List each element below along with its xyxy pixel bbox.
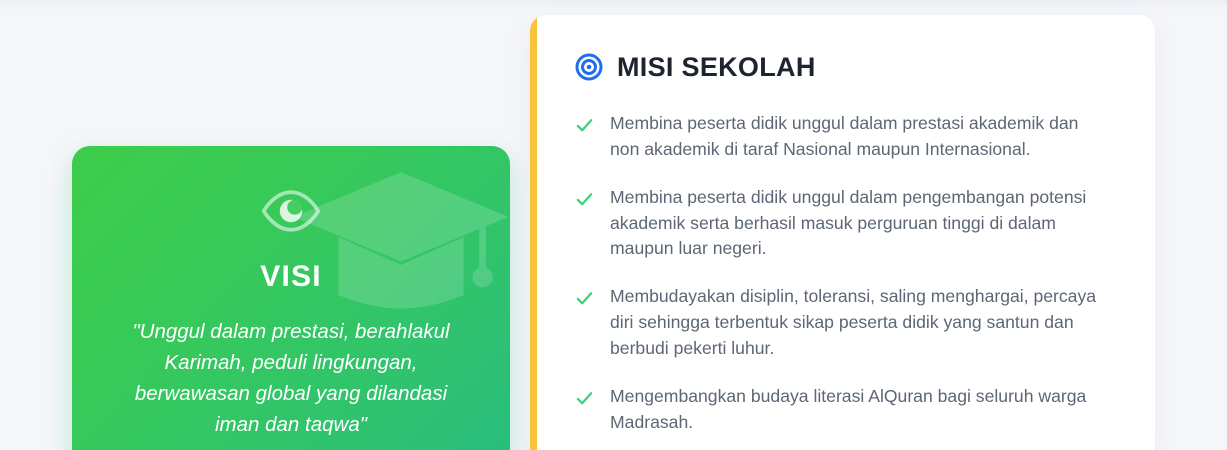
misi-header: MISI SEKOLAH xyxy=(575,53,1125,81)
visi-quote: "Unggul dalam prestasi, berahlakul Karim… xyxy=(106,316,476,441)
misi-item-text: Membina peserta didik unggul dalam prest… xyxy=(610,111,1100,163)
misi-accent-bar xyxy=(530,15,537,450)
list-item: Membina peserta didik unggul dalam prest… xyxy=(575,111,1125,163)
misi-item-text: Membudayakan disiplin, toleransi, saling… xyxy=(610,284,1100,362)
misi-card: MISI SEKOLAH Membina peserta didik unggu… xyxy=(530,15,1155,450)
visi-title: VISI xyxy=(106,260,476,294)
list-item: Membudayakan disiplin, toleransi, saling… xyxy=(575,284,1125,362)
misi-content: MISI SEKOLAH Membina peserta didik unggu… xyxy=(537,15,1155,450)
check-icon xyxy=(575,289,594,308)
list-item: Mengembangkan budaya literasi AlQuran ba… xyxy=(575,384,1125,436)
target-icon xyxy=(575,53,603,81)
misi-item-text: Mengembangkan budaya literasi AlQuran ba… xyxy=(610,384,1100,436)
check-icon xyxy=(575,190,594,209)
check-icon xyxy=(575,389,594,408)
list-item: Membina peserta didik unggul dalam penge… xyxy=(575,185,1125,263)
check-icon xyxy=(575,116,594,135)
vision-mission-section: VISI "Unggul dalam prestasi, berahlakul … xyxy=(0,0,1227,450)
misi-item-text: Membina peserta didik unggul dalam penge… xyxy=(610,185,1100,263)
misi-title: MISI SEKOLAH xyxy=(617,54,816,81)
eye-icon xyxy=(261,188,321,234)
misi-list: Membina peserta didik unggul dalam prest… xyxy=(575,111,1125,450)
visi-card: VISI "Unggul dalam prestasi, berahlakul … xyxy=(72,146,510,450)
visi-content: VISI "Unggul dalam prestasi, berahlakul … xyxy=(72,146,510,441)
